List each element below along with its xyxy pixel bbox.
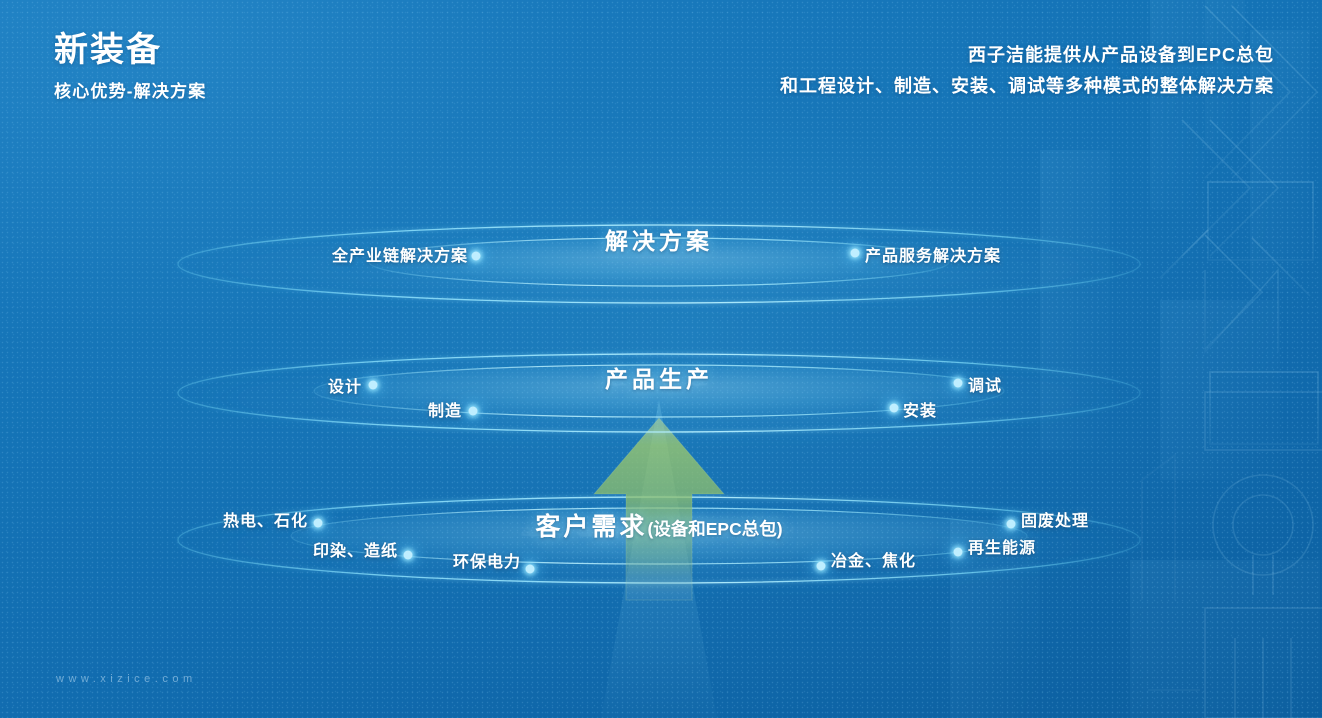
node-dot[interactable] bbox=[469, 407, 478, 416]
node-label[interactable]: 固废处理 bbox=[1021, 507, 1089, 531]
node-dot[interactable] bbox=[472, 252, 481, 261]
node-dot[interactable] bbox=[954, 548, 963, 557]
node-dot[interactable] bbox=[1007, 520, 1016, 529]
layer-title-production: 产品生产 bbox=[605, 360, 713, 394]
footer-website-url[interactable]: www.xizice.com bbox=[56, 673, 197, 685]
tagline-line-2: 和工程设计、制造、安装、调试等多种模式的整体解决方案 bbox=[780, 71, 1274, 102]
background-decoration bbox=[0, 0, 1322, 718]
node-dot[interactable] bbox=[404, 551, 413, 560]
diagram-stage bbox=[0, 0, 1322, 718]
node-label[interactable]: 再生能源 bbox=[968, 534, 1036, 558]
header-left: 新装备 核心优势-解决方案 bbox=[54, 30, 206, 102]
node-dot[interactable] bbox=[369, 381, 378, 390]
node-dot[interactable] bbox=[817, 562, 826, 571]
node-label[interactable]: 冶金、焦化 bbox=[831, 547, 916, 571]
page-title: 新装备 bbox=[54, 30, 206, 70]
node-label[interactable]: 全产业链解决方案 bbox=[332, 242, 468, 266]
node-dot[interactable] bbox=[526, 565, 535, 574]
layer-title-demand: 客户需求(设备和EPC总包) bbox=[535, 507, 782, 543]
tagline-line-1: 西子洁能提供从产品设备到EPC总包 bbox=[780, 40, 1274, 71]
header-tagline: 西子洁能提供从产品设备到EPC总包 和工程设计、制造、安装、调试等多种模式的整体… bbox=[780, 40, 1274, 102]
node-label[interactable]: 热电、石化 bbox=[223, 507, 308, 531]
page-subtitle: 核心优势-解决方案 bbox=[54, 77, 206, 102]
slide-canvas: 新装备 核心优势-解决方案 西子洁能提供从产品设备到EPC总包 和工程设计、制造… bbox=[0, 0, 1322, 718]
node-label[interactable]: 调试 bbox=[968, 372, 1002, 396]
node-label[interactable]: 产品服务解决方案 bbox=[865, 242, 1001, 266]
node-label[interactable]: 制造 bbox=[428, 397, 462, 421]
node-dot[interactable] bbox=[314, 519, 323, 528]
layer-title-solutions: 解决方案 bbox=[605, 222, 713, 256]
node-label[interactable]: 设计 bbox=[328, 373, 362, 397]
node-label[interactable]: 印染、造纸 bbox=[313, 537, 398, 561]
node-dot[interactable] bbox=[890, 404, 899, 413]
node-dot[interactable] bbox=[954, 379, 963, 388]
node-label[interactable]: 安装 bbox=[903, 397, 937, 421]
node-dot[interactable] bbox=[851, 249, 860, 258]
node-label[interactable]: 环保电力 bbox=[453, 548, 521, 572]
